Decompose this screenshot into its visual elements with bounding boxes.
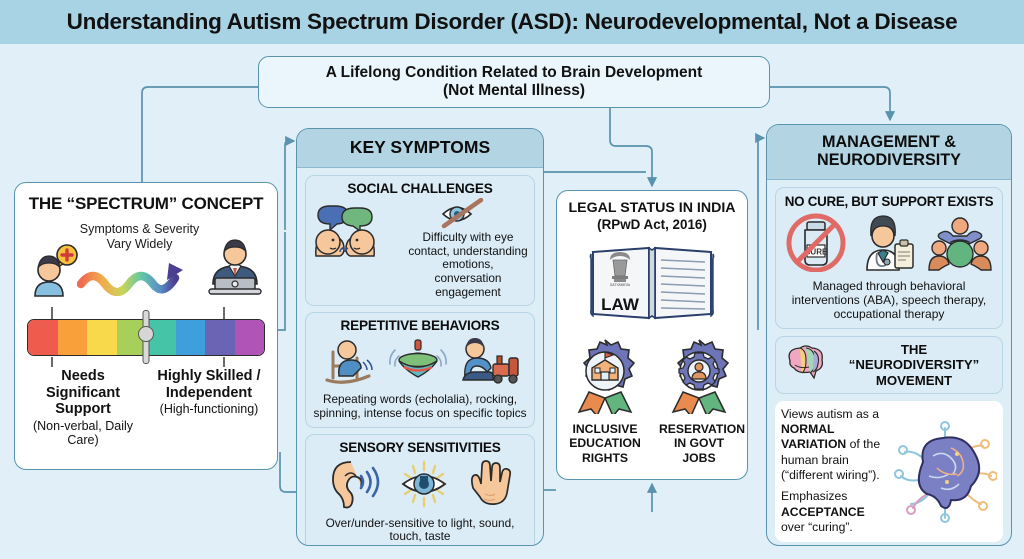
neurodiversity-title-line2: MOVEMENT <box>876 373 952 388</box>
neurodiversity-title: THE “NEURODIVERSITY” MOVEMENT <box>834 342 994 387</box>
support-group-icon <box>927 212 993 277</box>
spinning-top-icon <box>385 336 451 391</box>
colorful-brain-icon <box>784 345 826 384</box>
eye-light-icon <box>395 458 453 515</box>
key-symptoms-panel: KEY SYMPTOMS SOCIAL CHALLENGES <box>296 128 544 546</box>
neurodiversity-para-2: Emphasizes ACCEPTANCE over “curing”. <box>781 489 891 535</box>
management-panel-header: MANAGEMENT & NEURODIVERSITY <box>767 125 1011 180</box>
severity-slider[interactable] <box>27 310 265 364</box>
badge-reservation-govt-jobs: RESERVATION IN GOVT JOBS <box>659 338 739 465</box>
management-header-line1: MANAGEMENT & <box>771 133 1007 151</box>
nd-p1-a: Views autism as a <box>781 407 879 421</box>
neurodiversity-text: Views autism as a NORMAL VARIATION of th… <box>781 407 891 536</box>
spectrum-concept-panel: THE “SPECTRUM” CONCEPT Symptoms & Severi… <box>14 182 278 470</box>
slider-tick-right-lower <box>223 357 225 367</box>
school-rosette-icon <box>569 338 641 414</box>
legal-panel-subtitle: (RPwD Act, 2016) <box>557 217 747 232</box>
management-header-line2: NEURODIVERSITY <box>771 151 1007 169</box>
gear-person-rosette-icon <box>663 338 735 414</box>
spectrum-caption: Symptoms & Severity Vary Widely <box>77 222 202 252</box>
neurodiversity-para-1: Views autism as a NORMAL VARIATION of th… <box>781 407 891 484</box>
svg-text:SATYAMEVA: SATYAMEVA <box>610 283 631 287</box>
card-sensory-sensitivities-title: SENSORY SENSITIVITIES <box>312 440 528 455</box>
two-heads-talking-icon <box>312 198 404 265</box>
card-social-challenges: SOCIAL CHALLENGES <box>305 175 535 306</box>
person-independent-icon <box>203 234 267 301</box>
badge-reservation-govt-jobs-label: RESERVATION IN GOVT JOBS <box>659 422 739 465</box>
badge-inclusive-education-label: INCLUSIVE EDUCATION RIGHTS <box>565 422 645 465</box>
slider-tick-right <box>223 307 225 319</box>
slider-knob[interactable] <box>138 326 154 342</box>
nd-p2-a: Emphasizes <box>781 489 847 503</box>
neurodiversity-title-line1: THE “NEURODIVERSITY” <box>849 342 979 372</box>
nd-p2-c: over “curing”. <box>781 520 853 534</box>
spectrum-band <box>87 320 117 355</box>
title-bar: Understanding Autism Spectrum Disorder (… <box>0 0 1024 44</box>
top-statement-box: A Lifelong Condition Related to Brain De… <box>258 56 770 108</box>
wired-brain-icon <box>893 407 997 536</box>
card-no-cure: NO CURE, BUT SUPPORT EXISTS CURE <box>775 187 1003 329</box>
nd-p2-b: ACCEPTANCE <box>781 505 865 519</box>
card-social-challenges-title: SOCIAL CHALLENGES <box>312 181 528 196</box>
card-no-cure-title: NO CURE, BUT SUPPORT EXISTS <box>783 194 995 209</box>
ear-icon <box>325 458 383 515</box>
spectrum-label-right-bold: Highly Skilled / Independent <box>155 368 263 401</box>
card-sensory-sensitivities: SENSORY SENSITIVITIES <box>305 434 535 546</box>
top-statement-line1: A Lifelong Condition Related to Brain De… <box>326 64 703 82</box>
spectrum-label-right: Highly Skilled / Independent (High-funct… <box>155 368 263 447</box>
repetitive-behaviors-icons <box>312 336 528 391</box>
card-repetitive-behaviors-title: REPETITIVE BEHAVIORS <box>312 318 528 333</box>
sensory-icons <box>312 458 528 515</box>
spectrum-band <box>205 320 235 355</box>
child-with-train-icon <box>457 336 523 391</box>
spectrum-panel-title: THE “SPECTRUM” CONCEPT <box>15 194 277 214</box>
spectrum-label-left-bold: Needs Significant Support <box>29 368 137 418</box>
spectrum-band <box>58 320 88 355</box>
infographic-root: Understanding Autism Spectrum Disorder (… <box>0 0 1024 559</box>
legal-badges: INCLUSIVE EDUCATION RIGHTS RESERVATION I… <box>557 338 747 465</box>
doctor-icon <box>857 212 917 277</box>
key-symptoms-body: SOCIAL CHALLENGES <box>297 168 543 546</box>
card-social-challenges-text: Difficulty with eye contact, understandi… <box>408 231 528 299</box>
spectrum-band <box>176 320 206 355</box>
badge-inclusive-education: INCLUSIVE EDUCATION RIGHTS <box>565 338 645 465</box>
spectrum-label-left: Needs Significant Support (Non-verbal, D… <box>29 368 137 447</box>
legal-status-panel: LEGAL STATUS IN INDIA (RPwD Act, 2016) <box>556 190 748 480</box>
spectrum-band <box>28 320 58 355</box>
eye-contact-crossed-icon <box>408 198 528 230</box>
legal-panel-title: LEGAL STATUS IN INDIA <box>557 200 747 217</box>
no-cure-icons: CURE <box>783 212 995 277</box>
page-title: Understanding Autism Spectrum Disorder (… <box>67 9 958 35</box>
spectrum-illustration: Symptoms & Severity Vary Widely <box>15 218 277 304</box>
key-symptoms-header: KEY SYMPTOMS <box>297 129 543 168</box>
card-neurodiversity-header: THE “NEURODIVERSITY” MOVEMENT <box>775 336 1003 393</box>
law-book-label: LAW <box>601 295 640 314</box>
spectrum-band <box>235 320 265 355</box>
card-repetitive-behaviors-text: Repeating words (echolalia), rocking, sp… <box>312 393 528 420</box>
rocking-chair-icon <box>317 336 379 391</box>
slider-tick-left <box>51 307 53 319</box>
slider-tick-left-lower <box>51 357 53 367</box>
neurodiversity-description: Views autism as a NORMAL VARIATION of th… <box>775 401 1003 542</box>
nd-p1-b: NORMAL VARIATION <box>781 422 846 451</box>
card-repetitive-behaviors: REPETITIVE BEHAVIORS <box>305 312 535 427</box>
card-sensory-sensitivities-text: Over/under-sensitive to light, sound, to… <box>312 517 528 544</box>
person-needs-support-icon <box>27 242 83 303</box>
spectrum-label-right-sub: (High-functioning) <box>155 402 263 416</box>
rainbow-arrow-icon <box>77 260 197 301</box>
law-book-icon: SATYAMEVA LAW <box>557 238 747 324</box>
card-no-cure-text: Managed through behavioral interventions… <box>783 279 995 321</box>
top-statement-line2: (Not Mental Illness) <box>443 82 585 100</box>
spectrum-labels: Needs Significant Support (Non-verbal, D… <box>15 364 277 447</box>
spectrum-label-left-sub: (Non-verbal, Daily Care) <box>29 419 137 448</box>
no-cure-vial-icon: CURE <box>785 212 847 277</box>
hand-icon <box>465 458 515 515</box>
management-neurodiversity-panel: MANAGEMENT & NEURODIVERSITY NO CURE, BUT… <box>766 124 1012 546</box>
management-panel-body: NO CURE, BUT SUPPORT EXISTS CURE <box>767 180 1011 546</box>
